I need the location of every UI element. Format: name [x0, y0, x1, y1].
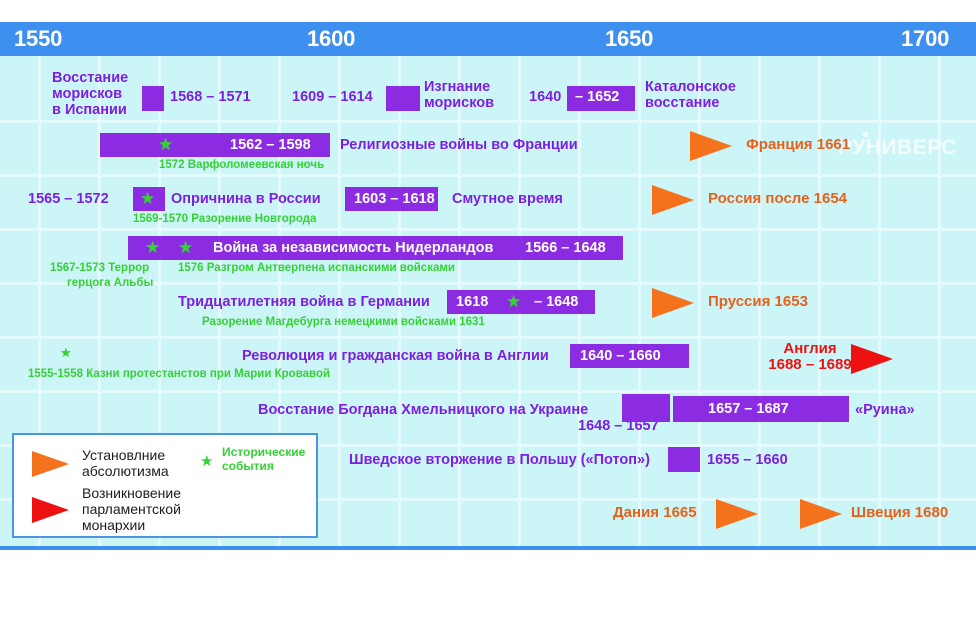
row-catalan-period-start: 1640 [529, 89, 561, 105]
green-star-icon: ★ [506, 293, 521, 310]
orange-triangle-icon [690, 131, 732, 161]
year-tick-1700: 1700 [901, 26, 949, 52]
row-troubles-period: 1603 – 1618 [354, 191, 435, 207]
row-catalan-title: Каталонское восстание [645, 79, 736, 111]
row-english-revolution-event: 1555-1558 Казни протестанстов при Марии … [28, 368, 330, 381]
row-french-wars-title: Религиозные войны во Франции [340, 137, 578, 153]
watermark-dot [863, 132, 868, 137]
orange-triangle-icon [32, 451, 69, 477]
row-oprichnina-event: 1569-1570 Разорение Новгорода [133, 213, 316, 226]
grid-line-vertical [938, 56, 941, 546]
row-english-revolution-period: 1640 – 1660 [580, 348, 661, 364]
row-troubles-title: Смутное время [452, 191, 563, 207]
row-oprichnina-period: 1565 – 1572 [28, 191, 109, 207]
row-thirty-years-event: Разорение Магдебурга немецкими войсками … [202, 316, 485, 329]
legend-item-parliamentary-monarchy: Возникновение парламентской монархии [82, 485, 181, 534]
legend-item-historical-events: Исторические события [222, 446, 305, 473]
green-star-icon: ★ [178, 239, 193, 256]
green-star-icon: ★ [140, 190, 155, 207]
row-swedish-deluge-period: 1655 – 1660 [707, 452, 788, 468]
orange-triangle-icon [652, 288, 694, 318]
row-moriscos-bar [142, 86, 164, 111]
row-dutch-revolt-event-alba-line2: герцога Альбы [67, 277, 153, 290]
row-khmelnytsky-title: Восстание Богдана Хмельницкого на Украин… [258, 402, 588, 418]
year-tick-1600: 1600 [307, 26, 355, 52]
runivers-watermark: РУНИВЕРС [838, 136, 957, 160]
row-thirty-years-period-start: 1618 [456, 294, 488, 310]
row-oprichnina-title: Опричнина в России [171, 191, 321, 207]
orange-triangle-icon [716, 499, 758, 529]
grid-line-vertical [638, 56, 641, 546]
grid-line-vertical [698, 56, 701, 546]
row-moriscos-expulsion-bar [386, 86, 420, 111]
year-tick-1550: 1550 [14, 26, 62, 52]
row-thirty-years-title: Тридцатилетняя война в Германии [178, 294, 430, 310]
grid-line-horizontal [0, 228, 976, 231]
row-moriscos-title: Восстание морисков в Испании [52, 70, 128, 119]
row-moriscos-expulsion-period: 1609 – 1614 [292, 89, 373, 105]
row-moriscos-expulsion-title: Изгнание морисков [424, 79, 494, 111]
red-triangle-icon [851, 344, 893, 374]
grid-line-vertical [878, 56, 881, 546]
row-dutch-revolt-event-alba: 1567-1573 Террор [50, 262, 149, 275]
row-moriscos-period: 1568 – 1571 [170, 89, 251, 105]
grid-line-horizontal [0, 120, 976, 123]
row-catalan-period-end: – 1652 [575, 89, 619, 105]
orange-triangle-icon [800, 499, 842, 529]
marker-sweden-1680: Швеция 1680 [851, 505, 948, 522]
year-tick-1650: 1650 [605, 26, 653, 52]
marker-france-1661: Франция 1661 [746, 137, 850, 154]
row-french-wars-event: 1572 Варфоломеевская ночь [159, 159, 324, 172]
row-ruin-period: 1657 – 1687 [708, 401, 789, 417]
orange-triangle-icon [652, 185, 694, 215]
grid-line-horizontal [0, 336, 976, 339]
marker-russia-1654: Россия после 1654 [708, 191, 847, 208]
row-english-revolution-title: Революция и гражданская война в Англии [242, 348, 549, 364]
grid-line-vertical [818, 56, 821, 546]
year-axis-header: 1550 1600 1650 1700 [0, 22, 976, 56]
grid-line-horizontal [0, 174, 976, 177]
row-ruin-title: «Руина» [855, 402, 915, 418]
marker-prussia-1653: Пруссия 1653 [708, 294, 808, 311]
legend: Установлние абсолютизма Возникновение па… [12, 433, 318, 538]
green-star-icon: ★ [200, 454, 213, 469]
row-french-wars-period: 1562 – 1598 [230, 137, 311, 153]
row-swedish-deluge-bar [668, 447, 700, 472]
row-dutch-revolt-period: 1566 – 1648 [525, 240, 606, 256]
green-star-icon: ★ [145, 239, 160, 256]
legend-item-absolutism: Установлние абсолютизма [82, 447, 169, 479]
green-star-icon: ★ [60, 346, 72, 359]
row-swedish-deluge-title: Шведское вторжение в Польшу («Потоп») [349, 452, 650, 468]
row-dutch-revolt-event-antwerp: 1576 Разгром Антверпена испанскими войск… [178, 262, 455, 275]
row-thirty-years-period-end: – 1648 [534, 294, 578, 310]
timeline-infographic: 1550 1600 1650 1700 РУ [0, 0, 976, 623]
row-dutch-revolt-title: Война за независимость Нидерландов [213, 240, 493, 256]
green-star-icon: ★ [158, 136, 173, 153]
grid-line-horizontal [0, 390, 976, 393]
marker-denmark-1665: Дания 1665 [613, 505, 697, 522]
row-khmelnytsky-bar [622, 394, 670, 422]
watermark-label: РУНИВЕРС [838, 136, 957, 159]
red-triangle-icon [32, 497, 69, 523]
